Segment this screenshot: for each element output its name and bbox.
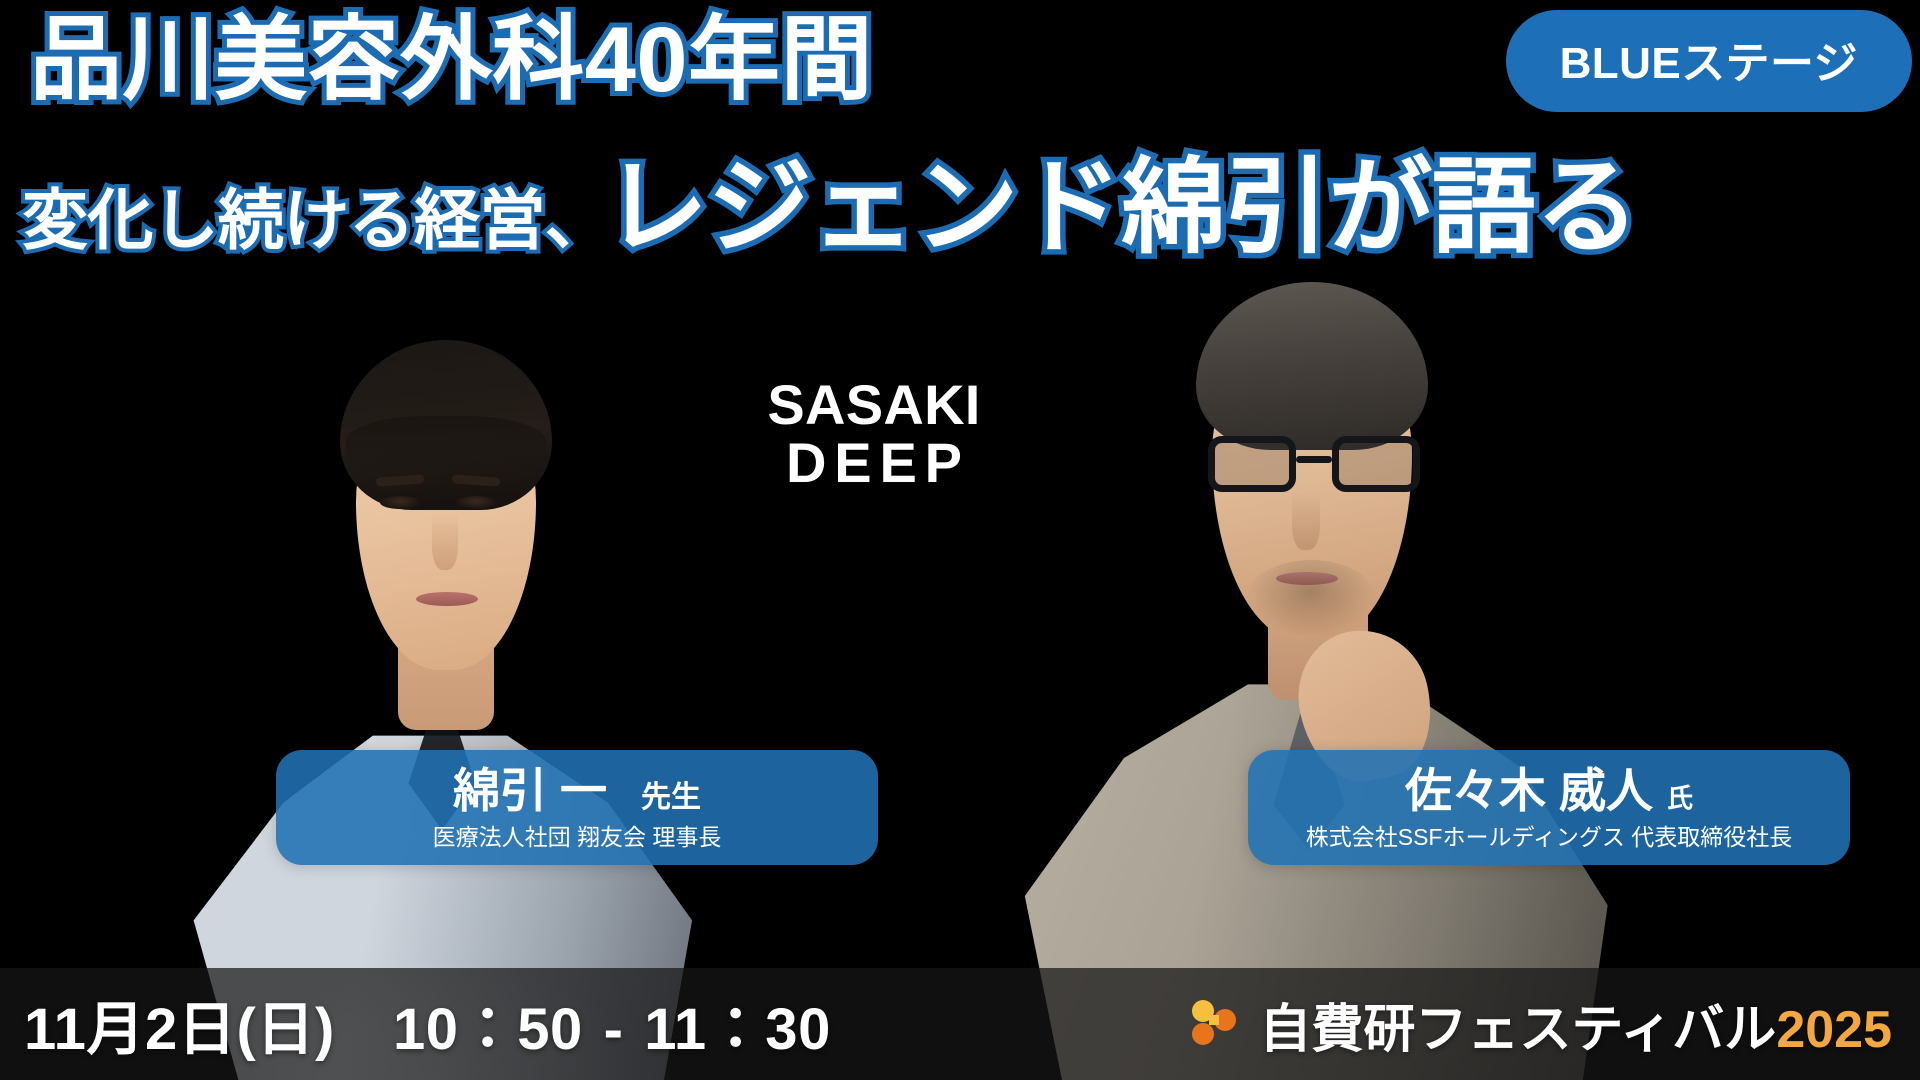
mouth	[416, 592, 478, 606]
speaker-honorific: 先生	[641, 781, 701, 814]
glasses-icon	[1204, 436, 1424, 494]
bottom-info-bar: 11月2日(日) 10：50 ‐ 11：30 自費研フェスティバル2025	[0, 968, 1920, 1080]
nameplate-sasaki: 佐々木 威人氏 株式会社SSFホールディングス 代表取締役社長	[1248, 750, 1850, 865]
schedule-time-separator: ‐	[604, 997, 624, 1062]
event-brand: 自費研フェスティバル2025	[1185, 987, 1892, 1062]
nose	[432, 512, 458, 570]
speaker-photo-watanuki	[160, 300, 720, 1080]
brand-year: 2025	[1776, 1001, 1892, 1059]
seminar-banner: 品川美容外科40年間 変化し続ける経営、 レジェンド綿引が語る BLUEステージ…	[0, 0, 1920, 1080]
four-dot-logo-icon	[1185, 996, 1241, 1052]
speaker-name-row: 佐々木 威人氏	[1248, 766, 1850, 817]
speaker-name-row: 綿引 一先生	[276, 766, 878, 817]
eye-left	[380, 496, 420, 509]
schedule-time-start: 10：50	[393, 997, 583, 1062]
program-logo-line-1: SASAKI	[724, 376, 1024, 433]
headline-line-2-small: 変化し続ける経営、	[22, 167, 610, 263]
stage-badge: BLUEステージ	[1506, 10, 1912, 112]
brand-name: 自費研フェスティバル	[1259, 1001, 1776, 1059]
program-logo-sasaki-deep: SASAKI DEEP	[724, 376, 1024, 492]
hair	[1196, 282, 1428, 450]
glasses-lens-left	[1208, 436, 1296, 492]
schedule-date: 11月2日(日)	[24, 997, 335, 1062]
nose	[1292, 492, 1320, 550]
speaker-honorific: 氏	[1667, 783, 1693, 813]
hair	[340, 340, 552, 510]
stage-badge-label: BLUEステージ	[1560, 39, 1858, 88]
glasses-lens-right	[1332, 436, 1420, 492]
brand-text: 自費研フェスティバル2025	[1259, 987, 1892, 1062]
eye-right	[456, 496, 496, 509]
program-logo-line-2: DEEP	[732, 433, 1024, 492]
speaker-organization: 医療法人社団 翔友会 理事長	[276, 824, 878, 852]
glasses-bridge	[1296, 456, 1332, 463]
schedule-time-end: 11：30	[644, 997, 831, 1062]
schedule-text: 11月2日(日) 10：50 ‐ 11：30	[24, 982, 831, 1066]
nameplate-watanuki: 綿引 一先生 医療法人社団 翔友会 理事長	[276, 750, 878, 865]
speaker-photo-sasaki	[1000, 260, 1620, 1080]
speaker-name: 綿引 一	[453, 764, 607, 817]
mouth	[1276, 572, 1338, 585]
speaker-organization: 株式会社SSFホールディングス 代表取締役社長	[1248, 824, 1850, 852]
speaker-name: 佐々木 威人	[1405, 764, 1653, 817]
headline-line-2: 変化し続ける経営、 レジェンド綿引が語る	[22, 122, 1920, 273]
headline-line-2-large: レジェンド綿引が語る	[604, 122, 1639, 273]
